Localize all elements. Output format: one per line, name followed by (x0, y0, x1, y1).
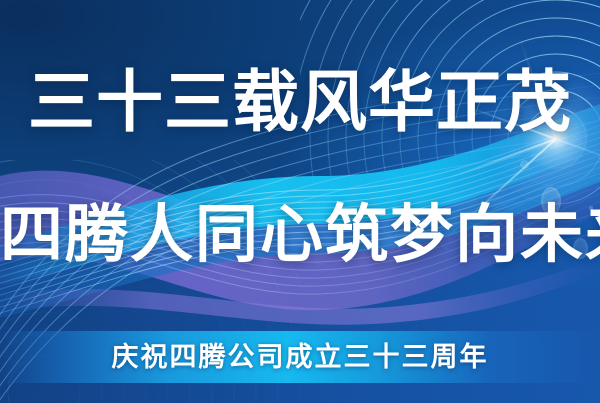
subtitle-text: 庆祝四腾公司成立三十三周年 (0, 338, 600, 376)
headline-line-2: 四腾人同心筑梦向未来 (0, 198, 600, 272)
anniversary-banner: 三十三载风华正茂 四腾人同心筑梦向未来 庆祝四腾公司成立三十三周年 (0, 0, 600, 403)
headline-line-1: 三十三载风华正茂 (0, 64, 600, 142)
